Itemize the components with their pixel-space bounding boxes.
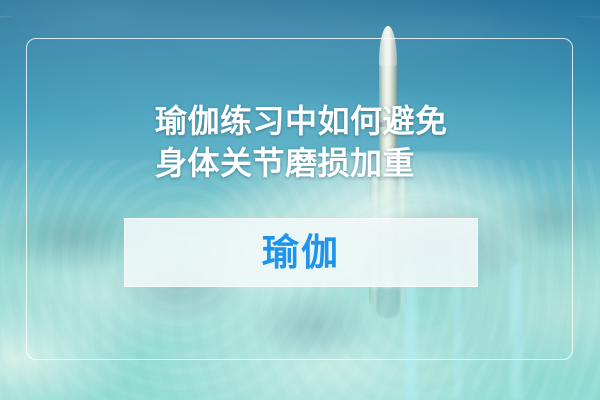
headline-line-2: 身体关节磨损加重: [155, 142, 485, 184]
page-title: 瑜伽练习中如何避免 身体关节磨损加重: [155, 100, 485, 184]
banner-image: 瑜伽练习中如何避免 身体关节磨损加重 瑜伽: [0, 0, 600, 400]
keyword-button[interactable]: 瑜伽: [124, 218, 478, 287]
headline-line-1: 瑜伽练习中如何避免: [155, 100, 485, 142]
keyword-button-label: 瑜伽: [262, 234, 340, 271]
rocket-nose-cone: [379, 26, 397, 66]
